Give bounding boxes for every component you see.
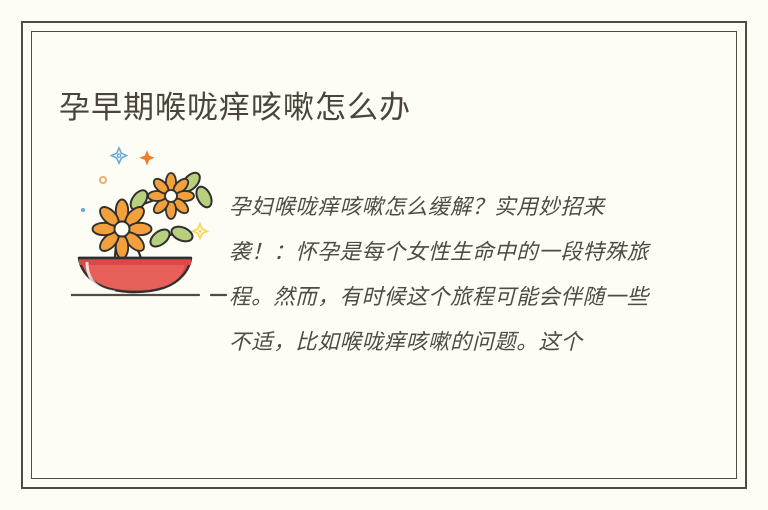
page-title: 孕早期喉咙痒咳嗽怎么办 [59, 88, 411, 128]
flower-large [93, 200, 152, 259]
yellow-sparkle-icon [193, 224, 207, 238]
blue-sparkle-icon [111, 148, 126, 163]
orange-ring-icon [100, 177, 106, 183]
planter-bowl [79, 258, 191, 292]
flower-small [148, 173, 194, 219]
article-card: 孕早期喉咙痒咳嗽怎么办 [21, 21, 747, 489]
flower-pot-illustration [71, 138, 231, 313]
orange-star-icon [139, 150, 155, 166]
article-body-text: 孕妇喉咙痒咳嗽怎么缓解？实用妙招来袭！：怀孕是每个女性生命中的一段特殊旅程。然而… [229, 185, 659, 365]
blue-dot-icon [81, 208, 85, 212]
